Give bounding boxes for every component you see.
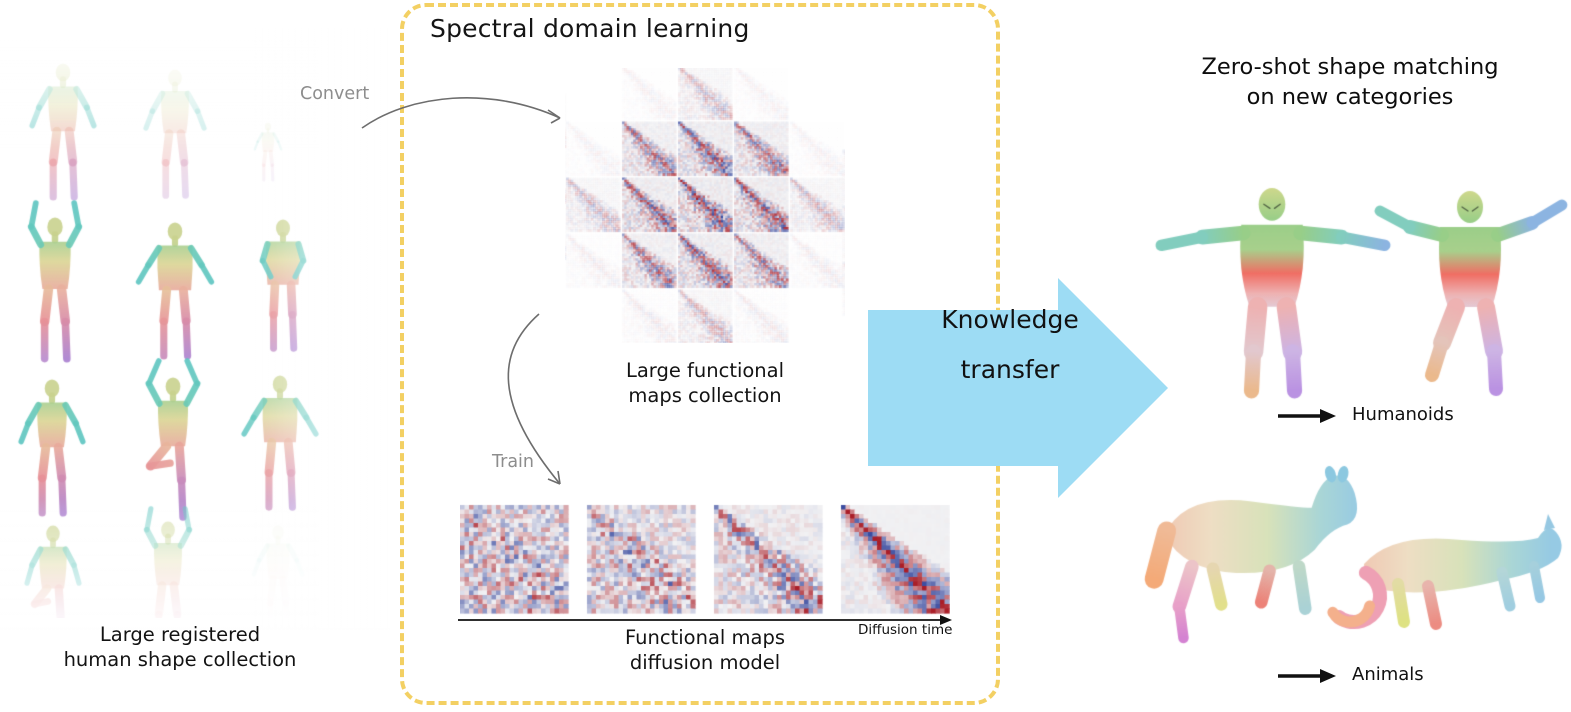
diffusion-maps-strip [460, 503, 950, 616]
humanoid-canvas [1140, 150, 1570, 410]
diffusion-strip-canvas [460, 503, 950, 616]
animals-arrow-icon [1278, 668, 1340, 684]
animals-label: Animals [1352, 664, 1424, 685]
knowledge-transfer-line1: Knowledge [900, 295, 1120, 345]
diffusion-time-label: Diffusion time [858, 622, 952, 638]
functional-maps-circle-canvas [565, 68, 845, 343]
convert-arrow-icon [360, 80, 580, 140]
figure-root: Large registered human shape collection … [0, 0, 1571, 712]
left-caption: Large registered human shape collection [30, 622, 330, 672]
diffusion-model-caption: Functional maps diffusion model [560, 625, 850, 675]
animal-shapes [1140, 440, 1570, 664]
humanoid-shapes [1140, 150, 1570, 414]
convert-label: Convert [300, 84, 369, 104]
panel-title: Spectral domain learning [430, 14, 750, 43]
train-arrow-icon [492, 312, 622, 497]
knowledge-transfer-line2: transfer [900, 345, 1120, 395]
knowledge-transfer-text: Knowledge transfer [900, 295, 1120, 395]
humanoids-arrow-icon [1278, 408, 1340, 424]
human-shape-gallery [0, 28, 390, 618]
right-title: Zero-shot shape matching on new categori… [1150, 52, 1550, 112]
functional-maps-collection [565, 68, 845, 343]
humanoids-label: Humanoids [1352, 404, 1454, 425]
animal-canvas [1140, 440, 1570, 660]
human-mesh-grid [0, 28, 390, 618]
